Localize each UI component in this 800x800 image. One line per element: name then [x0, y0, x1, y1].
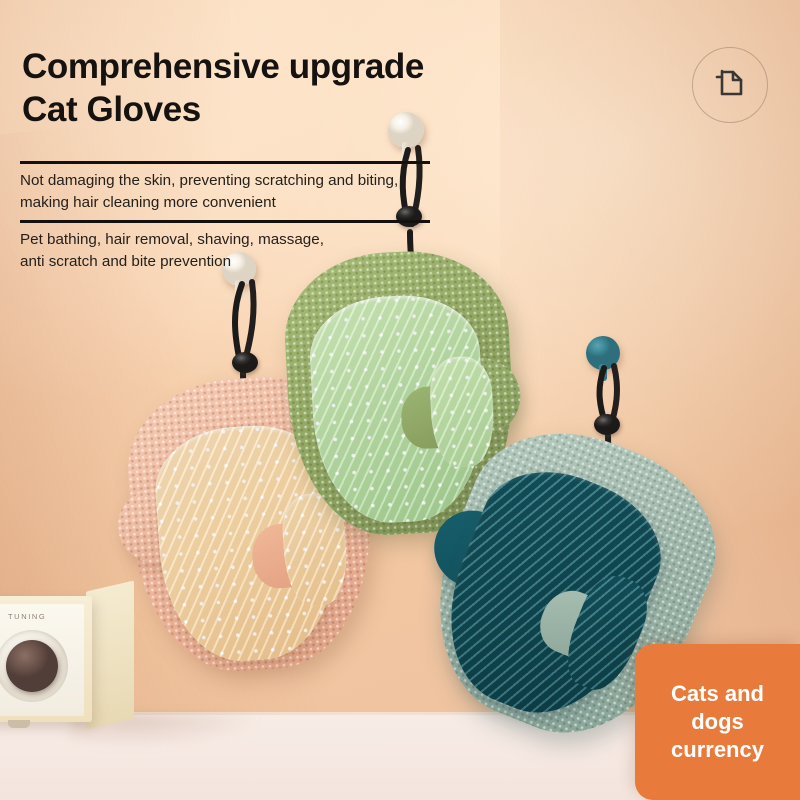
radio-knob[interactable]	[6, 640, 58, 692]
cta-badge[interactable]: Cats and dogs currency	[635, 644, 800, 800]
product-banner: TUNING Comprehensive upgrade Cat Gloves …	[0, 0, 800, 800]
headline-line-1: Comprehensive upgrade	[22, 46, 542, 89]
divider-bottom	[20, 220, 430, 223]
cta-line-2: currency	[643, 736, 792, 764]
feature-text-secondary: Pet bathing, hair removal, shaving, mass…	[20, 229, 440, 272]
headline-line-2: Cat Gloves	[22, 89, 542, 132]
page-title: Comprehensive upgrade Cat Gloves	[22, 46, 542, 131]
radio-foot	[8, 720, 30, 728]
divider-top	[20, 161, 430, 164]
feature-secondary-line-1: Pet bathing, hair removal, shaving, mass…	[20, 229, 440, 251]
retro-radio: TUNING	[0, 592, 134, 724]
feature-primary-line-1: Not damaging the skin, preventing scratc…	[20, 170, 440, 192]
feature-primary-line-2: making hair cleaning more convenient	[20, 192, 440, 214]
corner-badge[interactable]	[692, 47, 768, 123]
cord-lock-teal	[594, 414, 620, 435]
cta-text: Cats and dogs currency	[643, 680, 792, 764]
radio-tuning-label: TUNING	[8, 612, 46, 621]
feature-secondary-line-2: anti scratch and bite prevention	[20, 251, 440, 273]
cord-lock-peach	[232, 352, 258, 373]
cta-line-1: Cats and dogs	[643, 680, 792, 736]
crop-page-icon	[713, 68, 747, 102]
feature-text-primary: Not damaging the skin, preventing scratc…	[20, 170, 440, 213]
radio-side-panel	[86, 580, 134, 729]
